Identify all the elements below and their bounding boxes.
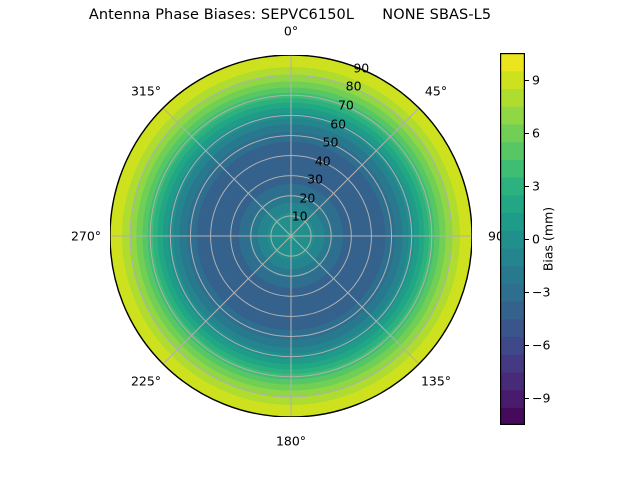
colorbar-band [500, 336, 525, 354]
colorbar-axis-label: Bias (mm) [541, 207, 556, 271]
colorbar-band [500, 319, 525, 337]
colorbar-band [500, 407, 525, 425]
colorbar-tick-label--6: −6 [532, 338, 550, 353]
angular-tick-label-135: 135° [421, 374, 451, 389]
angular-tick-label-45: 45° [425, 84, 447, 99]
colorbar-band [500, 390, 525, 408]
colorbar-tick-mark [525, 345, 529, 346]
colorbar-band [500, 71, 525, 89]
colorbar-tick-label-0: 0 [532, 232, 540, 247]
radial-tick-label-80: 80 [346, 79, 362, 94]
colorbar-band [500, 301, 525, 319]
polar-plot-axes[interactable]: 0°45°90135°180°225°270°315° 102030405060… [110, 55, 472, 417]
colorbar-band [500, 266, 525, 284]
colorbar-tick-mark [525, 292, 529, 293]
radial-tick-label-70: 70 [338, 97, 354, 112]
colorbar-tick-mark [525, 133, 529, 134]
colorbar-band [500, 177, 525, 195]
angular-tick-label-0: 0° [284, 24, 298, 39]
radial-tick-label-40: 40 [315, 153, 331, 168]
colorbar-bands [500, 53, 525, 425]
colorbar-band [500, 230, 525, 248]
colorbar-band [500, 142, 525, 160]
angular-tick-label-315: 315° [131, 84, 161, 99]
colorbar-tick-label--3: −3 [532, 285, 550, 300]
radial-tick-label-60: 60 [330, 116, 346, 131]
colorbar-band [500, 283, 525, 301]
colorbar-tick-label-9: 9 [532, 72, 540, 87]
colorbar-tick-mark [525, 398, 529, 399]
angular-tick-label-270: 270° [71, 229, 101, 244]
colorbar-tick-mark [525, 80, 529, 81]
colorbar-band [500, 354, 525, 372]
colorbar-band [500, 212, 525, 230]
angular-tick-label-180: 180° [276, 434, 306, 449]
colorbar-tick-label-6: 6 [532, 125, 540, 140]
colorbar-band [500, 159, 525, 177]
colorbar-band [500, 195, 525, 213]
colorbar[interactable]: −9−6−30369 [500, 53, 525, 425]
figure-canvas: Antenna Phase Biases: SEPVC6150L NONE SB… [0, 0, 640, 480]
polar-contour-surface [110, 55, 472, 417]
radial-tick-label-30: 30 [307, 172, 323, 187]
angular-gridlines [110, 55, 472, 417]
radial-tick-label-90: 90 [353, 60, 369, 75]
colorbar-band [500, 53, 525, 71]
colorbar-band [500, 106, 525, 124]
radial-tick-label-10: 10 [292, 209, 308, 224]
page-title: Antenna Phase Biases: SEPVC6150L NONE SB… [0, 7, 580, 23]
colorbar-band [500, 88, 525, 106]
radial-tick-label-20: 20 [299, 190, 315, 205]
colorbar-band [500, 124, 525, 142]
colorbar-tick-mark [525, 186, 529, 187]
colorbar-band [500, 248, 525, 266]
colorbar-band [500, 372, 525, 390]
radial-tick-label-50: 50 [323, 135, 339, 150]
colorbar-tick-label--9: −9 [532, 391, 550, 406]
colorbar-gradient [500, 53, 525, 425]
colorbar-tick-label-3: 3 [532, 178, 540, 193]
angular-tick-label-225: 225° [131, 374, 161, 389]
colorbar-tick-mark [525, 239, 529, 240]
